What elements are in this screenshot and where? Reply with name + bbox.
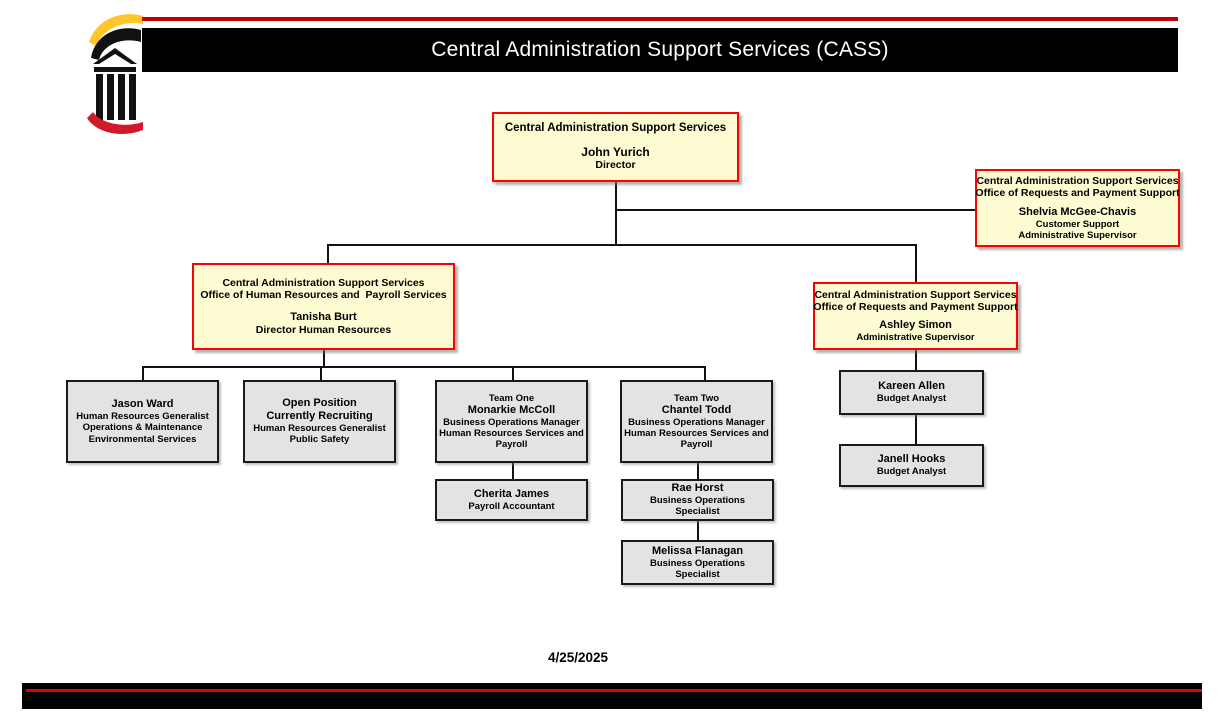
director-title: Director	[595, 159, 635, 171]
payment-supervisor-unit-line1: Central Administration Support Services	[814, 289, 1016, 301]
customer-support-name: Shelvia McGee-Chavis	[1019, 206, 1136, 219]
cherita-james-title: Payroll Accountant	[468, 501, 554, 512]
hr-director-unit-line2: Office of Human Resources and Payroll Se…	[200, 289, 446, 301]
director-unit: Central Administration Support Services	[505, 122, 726, 136]
connector-to-jason-ward	[142, 366, 144, 380]
hr-director-name: Tanisha Burt	[290, 311, 356, 324]
footer-red-rule	[26, 689, 1202, 692]
node-director[interactable]: Central Administration Support Services …	[492, 112, 739, 182]
team-one-name: Monarkie McColl	[468, 404, 555, 417]
node-rae-horst[interactable]: Rae Horst Business Operations Specialist	[621, 479, 774, 521]
connector-team-two-to-rae	[697, 463, 699, 479]
node-hr-director[interactable]: Central Administration Support Services …	[192, 263, 455, 350]
node-jason-ward[interactable]: Jason Ward Human Resources Generalist Op…	[66, 380, 219, 463]
payment-supervisor-unit-line2: Office of Requests and Payment Support	[813, 301, 1017, 313]
connector-to-payment-supervisor	[915, 244, 917, 282]
chart-date: 4/25/2025	[548, 650, 608, 665]
node-customer-support[interactable]: Central Administration Support Services …	[975, 169, 1180, 247]
rae-horst-title-line1: Business Operations	[650, 495, 745, 506]
melissa-flanagan-title-line2: Specialist	[675, 569, 719, 580]
team-one-detail-line2: Payroll	[496, 439, 528, 450]
node-cherita-james[interactable]: Cherita James Payroll Accountant	[435, 479, 588, 521]
connector-to-team-two	[704, 366, 706, 380]
connector-hr-children-bus	[142, 366, 705, 368]
hr-director-title: Director Human Resources	[256, 324, 391, 336]
header-red-rule	[142, 17, 1178, 21]
kareen-allen-title: Budget Analyst	[877, 393, 946, 404]
rae-horst-title-line2: Specialist	[675, 506, 719, 517]
cherita-james-name: Cherita James	[474, 488, 549, 501]
open-position-name-line2: Currently Recruiting	[266, 410, 372, 423]
page-title: Central Administration Support Services …	[431, 38, 888, 62]
jason-ward-title: Human Resources Generalist	[76, 411, 209, 422]
kareen-allen-name: Kareen Allen	[878, 380, 945, 393]
connector-to-hr-director	[327, 244, 329, 264]
open-position-name-line1: Open Position	[282, 397, 357, 410]
team-two-detail-line2: Payroll	[681, 439, 713, 450]
jason-ward-detail-line1: Operations & Maintenance	[83, 422, 203, 433]
connector-kareen-to-janell	[915, 415, 917, 444]
team-one-detail-line1: Human Resources Services and	[439, 428, 584, 439]
connector-team-one-to-cherita	[512, 463, 514, 479]
customer-support-title-line1: Customer Support	[1036, 219, 1119, 230]
customer-support-title-line2: Administrative Supervisor	[1018, 230, 1136, 241]
customer-support-unit-line1: Central Administration Support Services	[976, 175, 1178, 187]
node-team-two[interactable]: Team Two Chantel Todd Business Operation…	[620, 380, 773, 463]
footer-black-bar	[22, 683, 1202, 709]
open-position-title: Human Resources Generalist	[253, 423, 386, 434]
connector-director-to-customer-support	[615, 209, 977, 211]
team-two-detail-line1: Human Resources Services and	[624, 428, 769, 439]
node-melissa-flanagan[interactable]: Melissa Flanagan Business Operations Spe…	[621, 540, 774, 585]
open-position-detail: Public Safety	[290, 434, 350, 445]
payment-supervisor-title: Administrative Supervisor	[856, 332, 974, 343]
jason-ward-detail-line2: Environmental Services	[89, 434, 197, 445]
director-name: John Yurich	[581, 145, 649, 159]
janell-hooks-title: Budget Analyst	[877, 466, 946, 477]
team-one-label: Team One	[489, 393, 534, 404]
hr-director-unit-line1: Central Administration Support Services	[222, 277, 424, 289]
team-two-label: Team Two	[674, 393, 719, 404]
connector-tier2-bus	[327, 244, 917, 246]
connector-to-open-position	[320, 366, 322, 380]
node-team-one[interactable]: Team One Monarkie McColl Business Operat…	[435, 380, 588, 463]
team-one-title: Business Operations Manager	[443, 417, 580, 428]
connector-director-trunk	[615, 182, 617, 246]
node-kareen-allen[interactable]: Kareen Allen Budget Analyst	[839, 370, 984, 415]
org-chart-page: Central Administration Support Services …	[0, 0, 1223, 714]
umb-column-logo-icon	[83, 12, 147, 134]
jason-ward-name: Jason Ward	[112, 398, 174, 411]
janell-hooks-name: Janell Hooks	[878, 453, 946, 466]
node-open-position[interactable]: Open Position Currently Recruiting Human…	[243, 380, 396, 463]
connector-to-team-one	[512, 366, 514, 380]
customer-support-unit-line2: Office of Requests and Payment Support	[975, 187, 1179, 199]
team-two-title: Business Operations Manager	[628, 417, 765, 428]
header-banner: Central Administration Support Services …	[142, 28, 1178, 72]
melissa-flanagan-title-line1: Business Operations	[650, 558, 745, 569]
node-janell-hooks[interactable]: Janell Hooks Budget Analyst	[839, 444, 984, 487]
node-payment-supervisor[interactable]: Central Administration Support Services …	[813, 282, 1018, 350]
team-two-name: Chantel Todd	[662, 404, 731, 417]
melissa-flanagan-name: Melissa Flanagan	[652, 545, 743, 558]
connector-ashley-to-kareen	[915, 350, 917, 370]
payment-supervisor-name: Ashley Simon	[879, 319, 952, 332]
rae-horst-name: Rae Horst	[672, 482, 724, 495]
connector-rae-to-melissa	[697, 521, 699, 540]
